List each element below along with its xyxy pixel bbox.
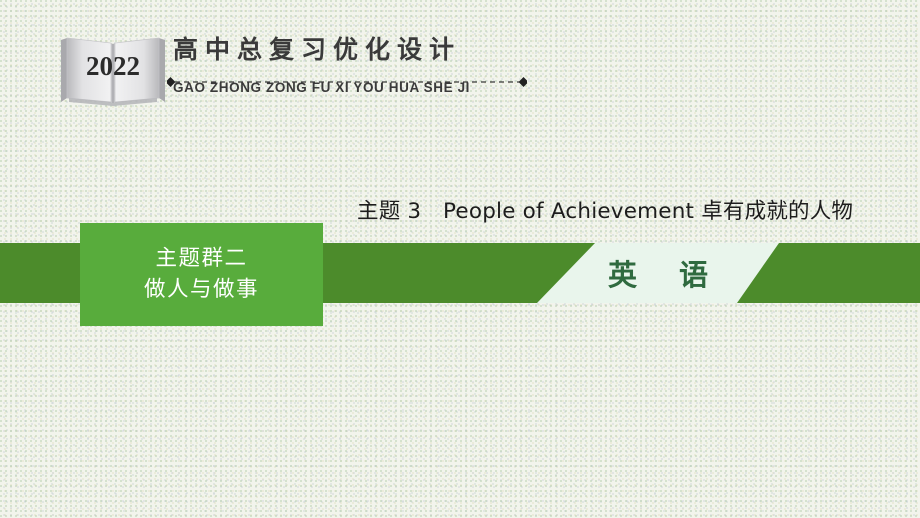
subject-label: 英 语 (537, 243, 779, 303)
logo-year: 2022 (57, 30, 169, 106)
logo-pinyin: GAO ZHONG ZONG FU XI YOU HUA SHE JI (173, 80, 470, 95)
theme-group-box: 主题群二 做人与做事 (80, 223, 323, 326)
theme-group-line1: 主题群二 (155, 244, 247, 275)
page-title: 主题 3 People of Achievement 卓有成就的人物 (357, 194, 853, 225)
slide-canvas: 2022 高中总复习优化设计 GAO ZHONG ZONG FU XI YOU … (0, 0, 920, 518)
brand-logo-block: 2022 高中总复习优化设计 GAO ZHONG ZONG FU XI YOU … (57, 30, 477, 108)
logo-chinese-title: 高中总复习优化设计 (173, 30, 461, 66)
theme-group-line2: 做人与做事 (144, 275, 259, 306)
